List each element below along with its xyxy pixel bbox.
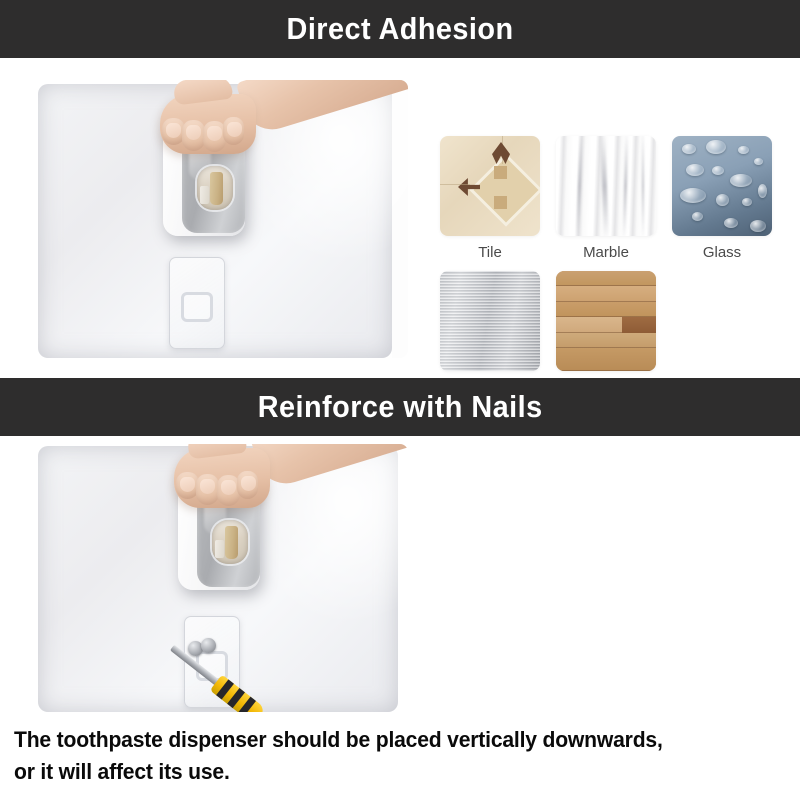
fingernail [200,479,215,494]
marble-vein [600,136,609,236]
wood-texture [556,271,656,371]
banner-reinforce-with-nails: Reinforce with Nails [0,378,800,436]
wood-texture-icon [556,271,656,371]
surface-label-tile: Tile [478,244,502,261]
wood-plank [556,348,656,371]
dispenser-window [197,166,233,210]
surface-item-tile: Tile [432,136,548,261]
fingernail [207,126,222,141]
water-droplet [686,164,704,176]
surface-label-glass: Glass [703,244,741,261]
finger [237,471,258,499]
section-reinforce-with-nails: ihave [0,436,800,722]
banner-direct-adhesion: Direct Adhesion [0,0,800,58]
tile-texture-icon [440,136,540,236]
fingernail [186,125,201,140]
water-droplet [750,220,766,232]
water-droplet [758,184,767,198]
metal-texture [440,271,540,371]
water-droplet [742,198,752,206]
water-droplet [682,144,696,154]
tile-square-motif [494,166,507,179]
banner-reinforce-with-nails-title: Reinforce with Nails [258,389,543,425]
surface-label-marble: Marble [583,244,629,261]
adhesive-pad-mount-square [181,292,213,322]
wood-plank [556,302,656,317]
metal-texture-icon [440,271,540,371]
water-droplet [724,218,738,228]
tile-grout-line [502,136,503,164]
fingernail [241,476,256,491]
bottom-caption: The toothpaste dispenser should be place… [14,724,763,788]
fingernail [166,123,181,138]
photo-right-strip [392,80,408,358]
water-droplet [754,158,763,165]
caption-line-2: or it will affect its use. [14,756,763,788]
toothpaste-tube-cap [200,186,209,204]
water-droplet [712,166,724,175]
marble-vein [576,136,583,236]
surface-item-marble: Marble [548,136,664,261]
water-droplet [716,194,729,206]
photo-direct-adhesion: ihave [38,80,408,358]
wood-plank-dark [622,317,656,333]
surface-item-glass: Glass [664,136,780,261]
product-infographic: Direct Adhesion ihave [0,0,800,800]
marble-texture [556,136,656,236]
toothpaste-tube-cap [215,540,224,558]
water-droplet [730,174,752,187]
screw [201,638,216,653]
dispenser-window [212,520,248,564]
tile-square-motif [494,196,507,209]
adhesive-pad [169,257,225,349]
water-droplet [692,212,703,221]
wood-plank [556,333,656,348]
marble-vein [642,136,644,236]
glass-texture [672,136,772,236]
fingernail [221,480,236,495]
tile-grout-line [440,184,470,185]
toothpaste-tube [225,526,238,559]
fingernail [180,477,195,492]
water-droplet [680,188,706,203]
finger [196,474,219,505]
finger [182,120,205,151]
toothpaste-tube [210,172,223,205]
wood-plank [556,286,656,302]
glass-texture-icon [672,136,772,236]
surface-list-direct-adhesion: Tile Marble [432,136,782,406]
banner-direct-adhesion-title: Direct Adhesion [287,11,514,47]
tile-arrow-motif [458,178,480,196]
water-droplet [706,140,726,154]
water-droplet [738,146,749,154]
fingernail [227,122,242,137]
photo-reinforce-with-nails: ihave [38,444,408,712]
finger [223,117,244,145]
marble-vein [623,136,629,236]
marble-texture-icon [556,136,656,236]
wood-plank [556,271,656,286]
section-direct-adhesion: ihave [0,58,800,378]
caption-line-1: The toothpaste dispenser should be place… [14,724,763,756]
tile-texture [440,136,540,236]
